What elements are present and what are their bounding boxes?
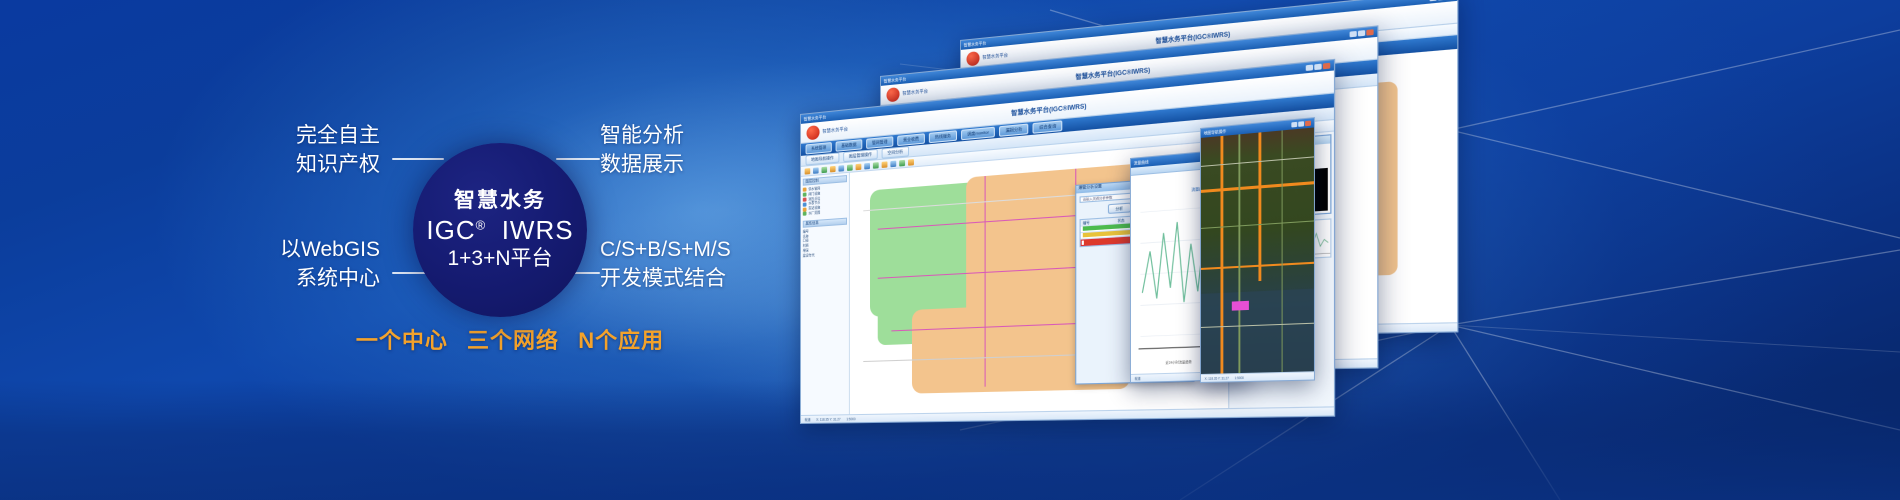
feature-label-top-left: 完全自主 知识产权	[200, 122, 380, 180]
hub-product-igc: IGC	[426, 215, 475, 245]
window-controls[interactable]	[1291, 121, 1311, 128]
tagline: 一个中心 三个网络 N个应用	[300, 323, 720, 355]
window-controls[interactable]	[1350, 29, 1374, 37]
feature-label-bottom-right: C/S+B/S+M/S 开发模式结合	[600, 236, 731, 294]
layer-panel[interactable]: 图层控制 供水管网 阀门设施 测压点位 水表节点 泵站设施 水厂范围 属性信息 …	[801, 173, 850, 415]
sat-road-minor	[1282, 130, 1283, 372]
connector-dash-top-right	[556, 158, 600, 160]
app-logo-caption: 智慧水务平台	[982, 52, 1008, 60]
feature-label-line1: C/S+B/S+M/S	[600, 238, 731, 261]
sat-water-area	[1201, 288, 1314, 374]
status-left: 就绪	[1135, 376, 1141, 381]
app-logo-caption: 智慧水务平台	[902, 88, 928, 96]
tagline-part-3: N个应用	[578, 328, 664, 353]
window-controls[interactable]	[1306, 63, 1331, 71]
hub-chinese-title: 智慧水务	[454, 189, 546, 212]
center-hub: 智慧水务 IGC® IWRS 1+3+N平台	[413, 143, 587, 317]
info-label: 建设年代	[803, 253, 815, 259]
app-logo-icon	[887, 87, 900, 102]
hub-product-name: IGC® IWRS	[426, 216, 573, 245]
line-chart-axis-caption: 近24小时流量趋势	[1165, 359, 1191, 365]
app-logo-icon	[967, 51, 980, 66]
sat-highlight-parcel	[1232, 301, 1249, 311]
hub-product-iwrs: IWRS	[502, 215, 574, 245]
status-left: 就绪	[805, 417, 811, 422]
feature-label-line2: 数据展示	[600, 151, 684, 180]
registered-mark-icon: ®	[476, 217, 486, 232]
feature-label-line1: 完全自主	[296, 124, 380, 147]
banner-stage: 智慧水务平台 智慧水务平台 智慧水务平台(IGC®IWRS) 系统管理 基础数据…	[0, 0, 1900, 500]
feature-label-line2: 系统中心	[200, 265, 380, 294]
sat-road-major	[1221, 136, 1224, 374]
hub-platform-label: 1+3+N平台	[447, 247, 552, 271]
app-window-satellite[interactable]: 地图导航操作 X: 1	[1200, 117, 1315, 383]
tagline-part-2: 三个网络	[467, 328, 559, 353]
status-scale: 1:5000	[846, 417, 855, 421]
feature-label-line2: 知识产权	[200, 151, 380, 180]
tagline-part-1: 一个中心	[356, 328, 448, 353]
map-pipe	[985, 176, 986, 387]
sat-road-minor	[1239, 134, 1240, 373]
feature-label-line2: 开发模式结合	[600, 265, 731, 294]
status-scale: 1:5000	[1235, 375, 1244, 379]
feature-label-line1: 智能分析	[600, 124, 684, 147]
feature-label-line1: 以WebGIS	[280, 238, 380, 261]
app-banner-title: 智慧水务平台(IGC®IWRS)	[1011, 101, 1086, 118]
app-logo-caption: 智慧水务平台	[822, 126, 848, 134]
titlebar-text: 流量曲线	[1134, 159, 1149, 166]
app-logo-icon	[807, 125, 820, 140]
connector-dash-top-left	[392, 158, 444, 160]
screenshot-cluster: 智慧水务平台 智慧水务平台 智慧水务平台(IGC®IWRS) 系统管理 基础数据…	[780, 40, 1560, 440]
status-coords: X: 118.35 Y: 31.27	[816, 417, 840, 421]
feature-label-top-right: 智能分析 数据展示	[600, 122, 684, 180]
feature-label-bottom-left: 以WebGIS 系统中心	[200, 236, 380, 294]
dialog-ok-button[interactable]: 分析	[1108, 202, 1131, 213]
sat-road-major	[1259, 132, 1261, 281]
status-coords: X: 118.35 Y: 31.27	[1205, 376, 1229, 381]
layer-label: 水厂范围	[808, 210, 820, 216]
satellite-map-canvas[interactable]	[1201, 127, 1314, 373]
